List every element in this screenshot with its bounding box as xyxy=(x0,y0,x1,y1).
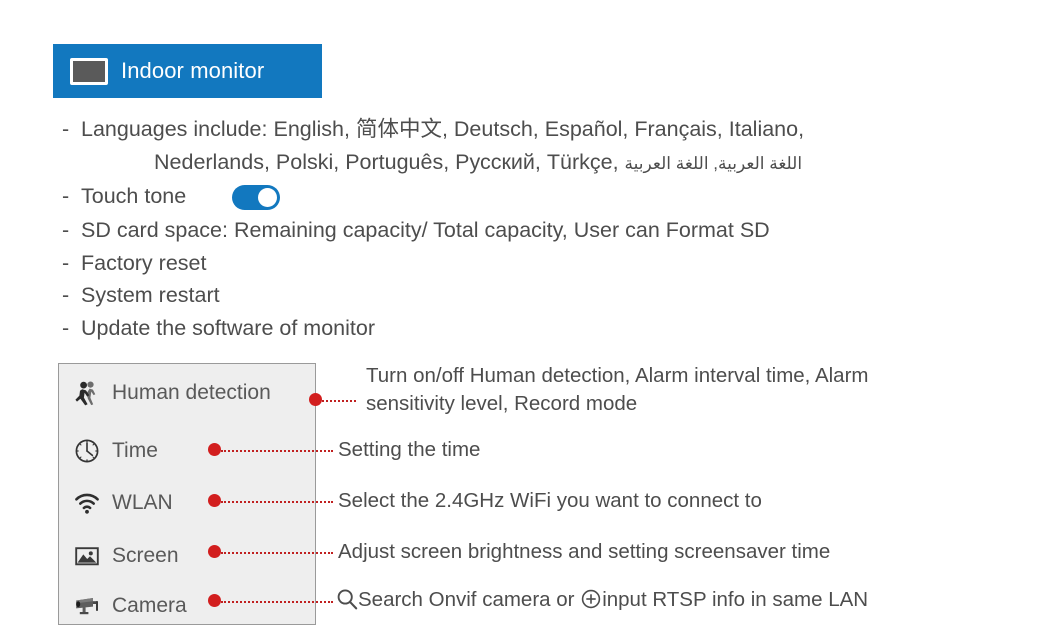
sd-card-label: SD card space: Remaining capacity/ Total… xyxy=(81,214,1022,247)
connector-line-time xyxy=(221,450,333,452)
menu-item-human-detection[interactable]: Human detection xyxy=(72,376,271,410)
list-item-factory-reset: - Factory reset xyxy=(62,247,1022,280)
plus-circle-icon xyxy=(580,588,602,610)
menu-item-label: Time xyxy=(112,439,158,463)
page-title: Indoor monitor xyxy=(121,58,264,84)
bullet-dash: - xyxy=(62,312,81,345)
connector-line-wlan xyxy=(221,501,333,503)
connector-dot-human-detection xyxy=(309,393,322,406)
annotation-camera: Search Onvif camera or input RTSP info i… xyxy=(336,586,868,614)
update-software-label: Update the software of monitor xyxy=(81,312,1022,345)
languages-label: Languages include: xyxy=(81,117,268,141)
touch-tone-label: Touch tone xyxy=(81,184,186,208)
annotation-camera-text-b: input RTSP info in same LAN xyxy=(602,588,868,611)
languages-line2-latin: Nederlands, Polski, Português, Русский, … xyxy=(154,150,619,174)
connector-dot-screen xyxy=(208,545,221,558)
image-icon xyxy=(72,541,102,571)
annotation-time: Setting the time xyxy=(338,436,480,464)
bullet-dash: - xyxy=(62,247,81,280)
wifi-icon xyxy=(72,488,102,518)
annotation-human-detection-line1: Turn on/off Human detection, Alarm inter… xyxy=(366,362,868,390)
menu-item-label: WLAN xyxy=(112,491,173,515)
clock-icon xyxy=(72,436,102,466)
menu-item-screen[interactable]: Screen xyxy=(72,539,179,573)
annotation-camera-text-a: Search Onvif camera or xyxy=(358,588,574,611)
indoor-monitor-title-bar: Indoor monitor xyxy=(53,44,322,98)
touch-tone-toggle-wrap[interactable] xyxy=(232,181,280,214)
settings-menu-panel: Human detection Time xyxy=(58,363,316,625)
menu-item-wlan[interactable]: WLAN xyxy=(72,486,173,520)
list-item-update-software: - Update the software of monitor xyxy=(62,312,1022,345)
monitor-icon xyxy=(70,58,108,85)
bullet-dash: - xyxy=(62,113,81,146)
bullet-dash: - xyxy=(62,180,81,213)
list-item-system-restart: - System restart xyxy=(62,279,1022,312)
menu-item-camera[interactable]: Camera xyxy=(72,589,187,623)
annotation-screen: Adjust screen brightness and setting scr… xyxy=(338,538,830,566)
connector-dot-camera xyxy=(208,594,221,607)
list-item-sd-card: - SD card space: Remaining capacity/ Tot… xyxy=(62,214,1022,247)
system-restart-label: System restart xyxy=(81,279,1022,312)
human-detection-icon xyxy=(72,378,102,408)
menu-item-label: Camera xyxy=(112,594,187,618)
languages-body: Languages include:English, 简体中文, Deutsch… xyxy=(81,113,1022,180)
bullet-dash: - xyxy=(62,214,81,247)
feature-list: - Languages include:English, 简体中文, Deuts… xyxy=(62,113,1022,345)
search-icon xyxy=(336,588,358,610)
list-item-touch-tone: - Touch tone xyxy=(62,180,1022,214)
list-item-languages: - Languages include:English, 简体中文, Deuts… xyxy=(62,113,1022,180)
touch-tone-toggle[interactable] xyxy=(232,185,280,210)
cctv-camera-icon xyxy=(72,591,102,621)
connector-dot-wlan xyxy=(208,494,221,507)
annotation-wlan: Select the 2.4GHz WiFi you want to conne… xyxy=(338,487,762,515)
languages-line2: Nederlands, Polski, Português, Русский, … xyxy=(81,146,1022,180)
menu-item-label: Screen xyxy=(112,544,179,568)
annotation-human-detection-line2: sensitivity level, Record mode xyxy=(366,390,637,418)
connector-line-human-detection xyxy=(322,400,356,402)
factory-reset-label: Factory reset xyxy=(81,247,1022,280)
bullet-dash: - xyxy=(62,279,81,312)
languages-line2-arabic: اللغة العربية, اللغة العربية xyxy=(625,154,803,173)
connector-line-camera xyxy=(221,601,333,603)
menu-item-time[interactable]: Time xyxy=(72,434,158,468)
languages-line1: English, 简体中文, Deutsch, Español, Françai… xyxy=(274,117,805,141)
menu-item-label: Human detection xyxy=(112,381,271,405)
connector-dot-time xyxy=(208,443,221,456)
connector-line-screen xyxy=(221,552,333,554)
touch-tone-body: Touch tone xyxy=(81,180,1022,214)
